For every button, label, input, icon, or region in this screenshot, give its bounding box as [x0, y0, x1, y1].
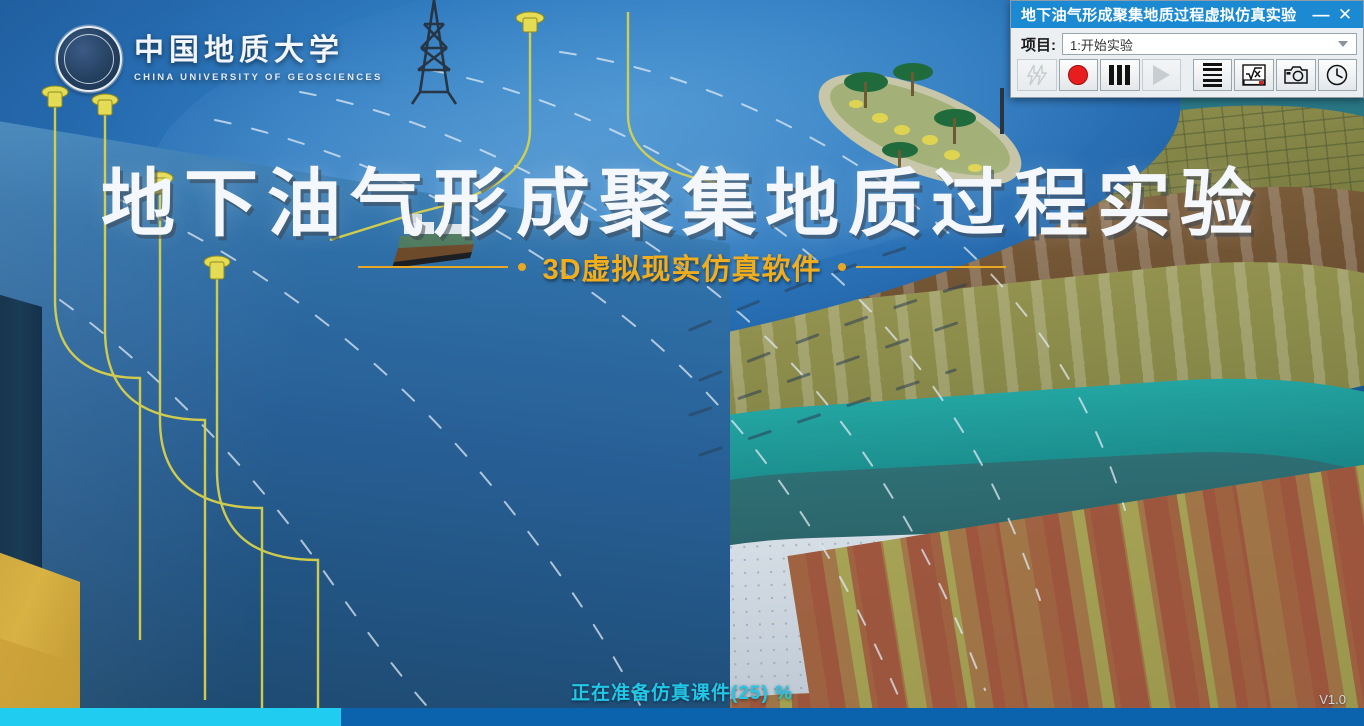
pause-button[interactable]	[1100, 59, 1140, 91]
camera-icon	[1283, 65, 1309, 85]
play-icon	[1153, 65, 1170, 85]
control-window-titlebar: 地下油气形成聚集地质过程虚拟仿真实验 — ✕	[1011, 1, 1363, 28]
university-name-cn: 中国地质大学	[134, 35, 383, 67]
page-subtitle: 3D虚拟现实仿真软件	[536, 246, 827, 288]
loading-status-text: 正在准备仿真课件(25) %	[0, 678, 1364, 705]
record-button[interactable]	[1059, 59, 1099, 91]
subtitle-dot-left	[518, 263, 526, 271]
pause-icon	[1109, 65, 1130, 85]
subtitle-rule-right	[856, 266, 1006, 269]
formula-icon	[1242, 64, 1266, 86]
subtitle-dot-right	[838, 263, 846, 271]
clock-button[interactable]	[1318, 59, 1358, 91]
university-seal-icon	[56, 26, 122, 92]
control-window-body: 项目: 1:开始实验	[1011, 28, 1363, 97]
control-toolbar	[1017, 59, 1357, 91]
project-label: 项目:	[1017, 34, 1056, 55]
university-name-en: CHINA UNIVERSITY OF GEOSCIENCES	[134, 72, 383, 83]
play-button[interactable]	[1142, 59, 1182, 91]
version-label: V1.0	[1319, 692, 1346, 707]
project-selected-value: 1:开始实验	[1070, 35, 1338, 54]
close-icon[interactable]: ✕	[1333, 4, 1357, 26]
formula-button[interactable]	[1234, 59, 1274, 91]
chevron-down-icon	[1338, 41, 1348, 47]
loading-progress-bar	[0, 708, 1364, 726]
subtitle-rule-left	[358, 266, 508, 269]
lightning-icon[interactable]	[1017, 59, 1057, 91]
record-icon	[1068, 65, 1088, 85]
loading-progress-fill	[0, 708, 341, 726]
clock-icon	[1325, 63, 1349, 87]
minimize-icon[interactable]: —	[1309, 4, 1333, 26]
list-button[interactable]	[1193, 59, 1233, 91]
splash-screen: 中国地质大学 CHINA UNIVERSITY OF GEOSCIENCES 地…	[0, 0, 1364, 726]
project-select[interactable]: 1:开始实验	[1062, 33, 1357, 55]
list-icon	[1203, 63, 1222, 87]
subtitle-row: 3D虚拟现实仿真软件	[0, 246, 1364, 288]
control-window: 地下油气形成聚集地质过程虚拟仿真实验 — ✕ 项目: 1:开始实验	[1010, 0, 1364, 98]
page-title: 地下油气形成聚集地质过程实验	[0, 144, 1364, 251]
camera-button[interactable]	[1276, 59, 1316, 91]
project-row: 项目: 1:开始实验	[1017, 33, 1357, 55]
background-3d-scene	[0, 0, 1364, 726]
lightning-glyph	[1025, 63, 1049, 87]
control-window-title: 地下油气形成聚集地质过程虚拟仿真实验	[1021, 4, 1309, 25]
university-logo: 中国地质大学 CHINA UNIVERSITY OF GEOSCIENCES	[56, 26, 383, 92]
